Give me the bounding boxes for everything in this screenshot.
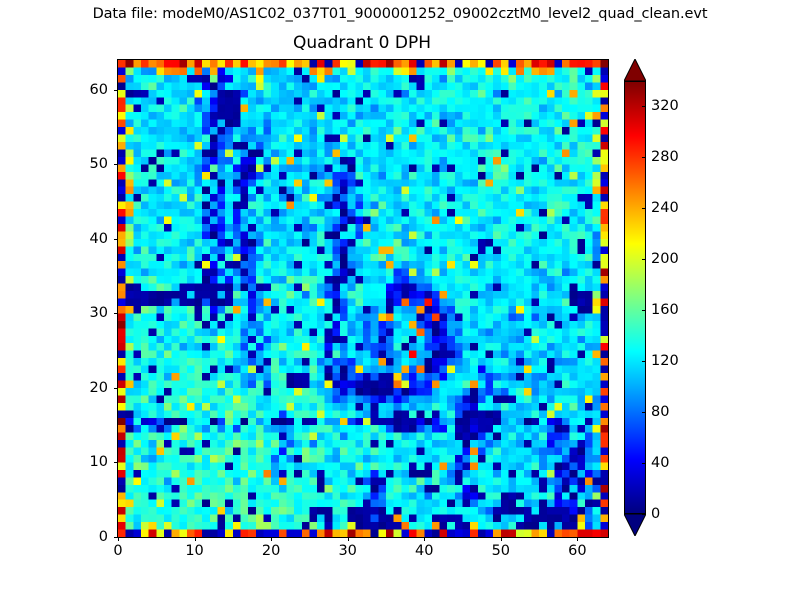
colorbar-tick-mark — [642, 157, 646, 158]
colorbar-tick-label: 240 — [651, 200, 679, 216]
colorbar-tick-mark — [642, 310, 646, 311]
colorbar-tick-mark — [642, 361, 646, 362]
axes-title: Quadrant 0 DPH — [117, 33, 607, 53]
colorbar-tick-label: 120 — [651, 353, 679, 369]
y-tick-mark — [114, 537, 118, 538]
colorbar-extend-up-arrow — [624, 59, 646, 81]
colorbar-tick-label: 280 — [651, 149, 679, 165]
x-tick-mark — [424, 537, 425, 541]
colorbar-tick-mark — [642, 463, 646, 464]
y-tick-label: 20 — [69, 380, 108, 396]
colorbar-tick-mark — [642, 208, 646, 209]
x-tick-label: 50 — [492, 543, 510, 559]
y-tick-label: 60 — [69, 82, 108, 98]
x-tick-mark — [195, 537, 196, 541]
y-tick-label: 40 — [69, 231, 108, 247]
colorbar-tick-label: 80 — [651, 404, 669, 420]
heatmap-axes — [117, 59, 609, 538]
colorbar-tick-label: 40 — [651, 455, 669, 471]
colorbar — [624, 59, 646, 536]
x-tick-mark — [577, 537, 578, 541]
y-tick-mark — [114, 388, 118, 389]
matplotlib-figure: Data file: modeM0/AS1C02_037T01_90000012… — [0, 0, 800, 600]
x-tick-mark — [501, 537, 502, 541]
colorbar-tick-label: 0 — [651, 506, 660, 522]
y-tick-label: 50 — [69, 156, 108, 172]
x-tick-label: 30 — [338, 543, 356, 559]
y-tick-mark — [114, 164, 118, 165]
colorbar-tick-label: 200 — [651, 251, 679, 267]
y-tick-label: 10 — [69, 454, 108, 470]
colorbar-tick-mark — [642, 259, 646, 260]
x-tick-label: 20 — [262, 543, 280, 559]
figure-suptitle: Data file: modeM0/AS1C02_037T01_90000012… — [0, 6, 800, 22]
x-tick-label: 0 — [113, 543, 122, 559]
x-tick-label: 10 — [185, 543, 203, 559]
colorbar-body — [624, 81, 646, 514]
detector-plane-histogram-image — [118, 60, 608, 537]
colorbar-tick-label: 160 — [651, 302, 679, 318]
x-tick-label: 60 — [568, 543, 586, 559]
y-tick-mark — [114, 313, 118, 314]
colorbar-tick-label: 320 — [651, 98, 679, 114]
x-tick-mark — [271, 537, 272, 541]
x-tick-label: 40 — [415, 543, 433, 559]
colorbar-gradient — [625, 82, 645, 513]
y-tick-mark — [114, 462, 118, 463]
y-tick-mark — [114, 90, 118, 91]
colorbar-tick-mark — [642, 106, 646, 107]
colorbar-tick-mark — [642, 412, 646, 413]
y-tick-label: 0 — [69, 529, 108, 545]
x-tick-mark — [118, 537, 119, 541]
colorbar-extend-down-arrow — [624, 514, 646, 536]
y-tick-label: 30 — [69, 305, 108, 321]
colorbar-tick-mark — [642, 514, 646, 515]
x-tick-mark — [348, 537, 349, 541]
y-tick-mark — [114, 239, 118, 240]
